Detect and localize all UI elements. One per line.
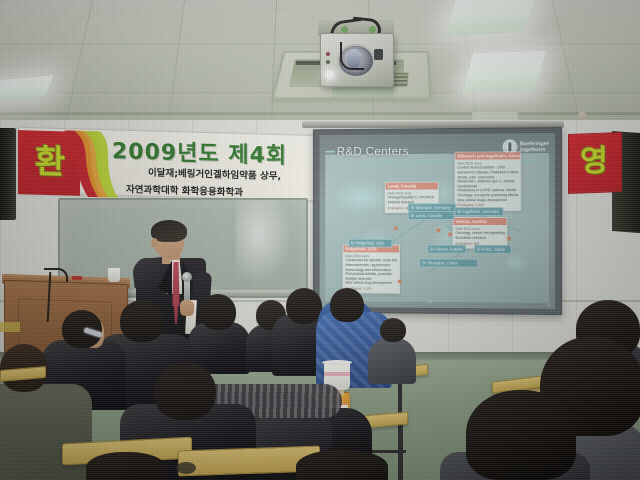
wall-speaker-left — [0, 128, 16, 220]
ceiling-light-panel — [462, 51, 546, 93]
paper-cup-band — [324, 372, 350, 376]
pin-vienna: BI Vienna, Austria — [427, 245, 466, 254]
audience-head — [286, 288, 322, 324]
paper-cup-rim — [322, 360, 352, 365]
slide-title: R&D Centers — [337, 144, 409, 158]
projector-bracket-right — [369, 26, 376, 33]
banner-title: 2009년도 제4회 — [112, 133, 318, 169]
pin-ingelheim: BI Ingelheim, Germany — [454, 207, 503, 216]
microphone-head — [182, 272, 192, 282]
audience-hair — [466, 390, 576, 480]
audience-head — [380, 318, 406, 342]
lectern-cable — [44, 268, 68, 282]
boehringer-logo-text: BoehringerIngelheim — [520, 141, 549, 153]
slide-footer-number: 58 — [427, 299, 432, 304]
audience-head — [62, 310, 102, 348]
slide-page-number: 4 — [548, 302, 550, 307]
audience-head — [330, 288, 364, 322]
audience-body — [0, 384, 92, 480]
audience-head — [154, 362, 216, 420]
map-dot — [398, 280, 401, 283]
projector-indicator-red — [326, 52, 330, 56]
projector-bracket-left — [341, 26, 348, 33]
projector-cable — [340, 42, 364, 70]
pin-laval: BI Laval, Canada — [408, 211, 455, 220]
ceiling-wall-seam — [0, 112, 640, 115]
callout-item: New clinical drugs development — [457, 198, 518, 203]
presenter-hand — [180, 300, 194, 316]
projector-power-led — [325, 70, 334, 79]
desk-cutout — [176, 462, 196, 474]
lectern-red-marker — [72, 276, 82, 280]
callout-body: Main R&D area Cardiovascular disease, he… — [343, 252, 399, 293]
map-dot — [394, 227, 397, 230]
projector-knob — [374, 49, 383, 60]
callout-biberach: Biberach and Ingelheim, Germany Main R&D… — [454, 151, 521, 210]
side-shelf — [0, 322, 20, 332]
presenter-ear — [151, 238, 158, 248]
audience-head — [200, 294, 236, 330]
banner-hangul-left: 환 — [28, 137, 72, 186]
map-dot — [507, 237, 510, 240]
audience-head — [86, 452, 166, 480]
banner-hangul-right: 영 — [572, 137, 616, 187]
pin-ridgefield: BI Ridgefield, USA — [348, 239, 392, 248]
ceiling-light-panel — [445, 0, 537, 36]
lecture-hall-photo: 환 2009년도 제4회 이달재;베링거인겔하임약품 상무, 자연과학대학 화학… — [0, 0, 640, 480]
map-dot — [437, 229, 440, 232]
whiteboard-glare — [236, 200, 292, 286]
audience-head — [120, 300, 164, 342]
audience-hair — [296, 450, 388, 480]
callout-item: Oncology, oncogenic pulmonary fibrosis — [457, 193, 518, 198]
pin-kobe: BI Kobe, Japan — [474, 245, 511, 254]
callout-body: Main R&D area Central nervous system - C… — [455, 159, 520, 209]
projection-screen: R&D Centers BoehringerIngelheim Biberach… — [313, 127, 562, 315]
callout-ridgefield: Ridgefield, USA Main R&D area Cardiovasc… — [342, 244, 400, 294]
logo-line2: Ingelheim — [520, 147, 545, 153]
map-dot — [449, 233, 452, 236]
pin-shanghai: BI Shanghai, China — [419, 258, 478, 267]
projector-indicator-green — [326, 60, 330, 64]
paper-cup-on-lectern — [108, 268, 120, 282]
slide-accent-tick — [325, 151, 335, 153]
callout-head: Biberach and Ingelheim, Germany — [455, 152, 520, 159]
callout-head: Vienna, Austria — [453, 218, 506, 225]
presentation-slide: R&D Centers BoehringerIngelheim Biberach… — [320, 133, 555, 309]
callout-item: Biomarker research — [455, 236, 504, 241]
audience-body — [368, 338, 416, 384]
callout-item: New clinical drug development — [345, 281, 397, 286]
